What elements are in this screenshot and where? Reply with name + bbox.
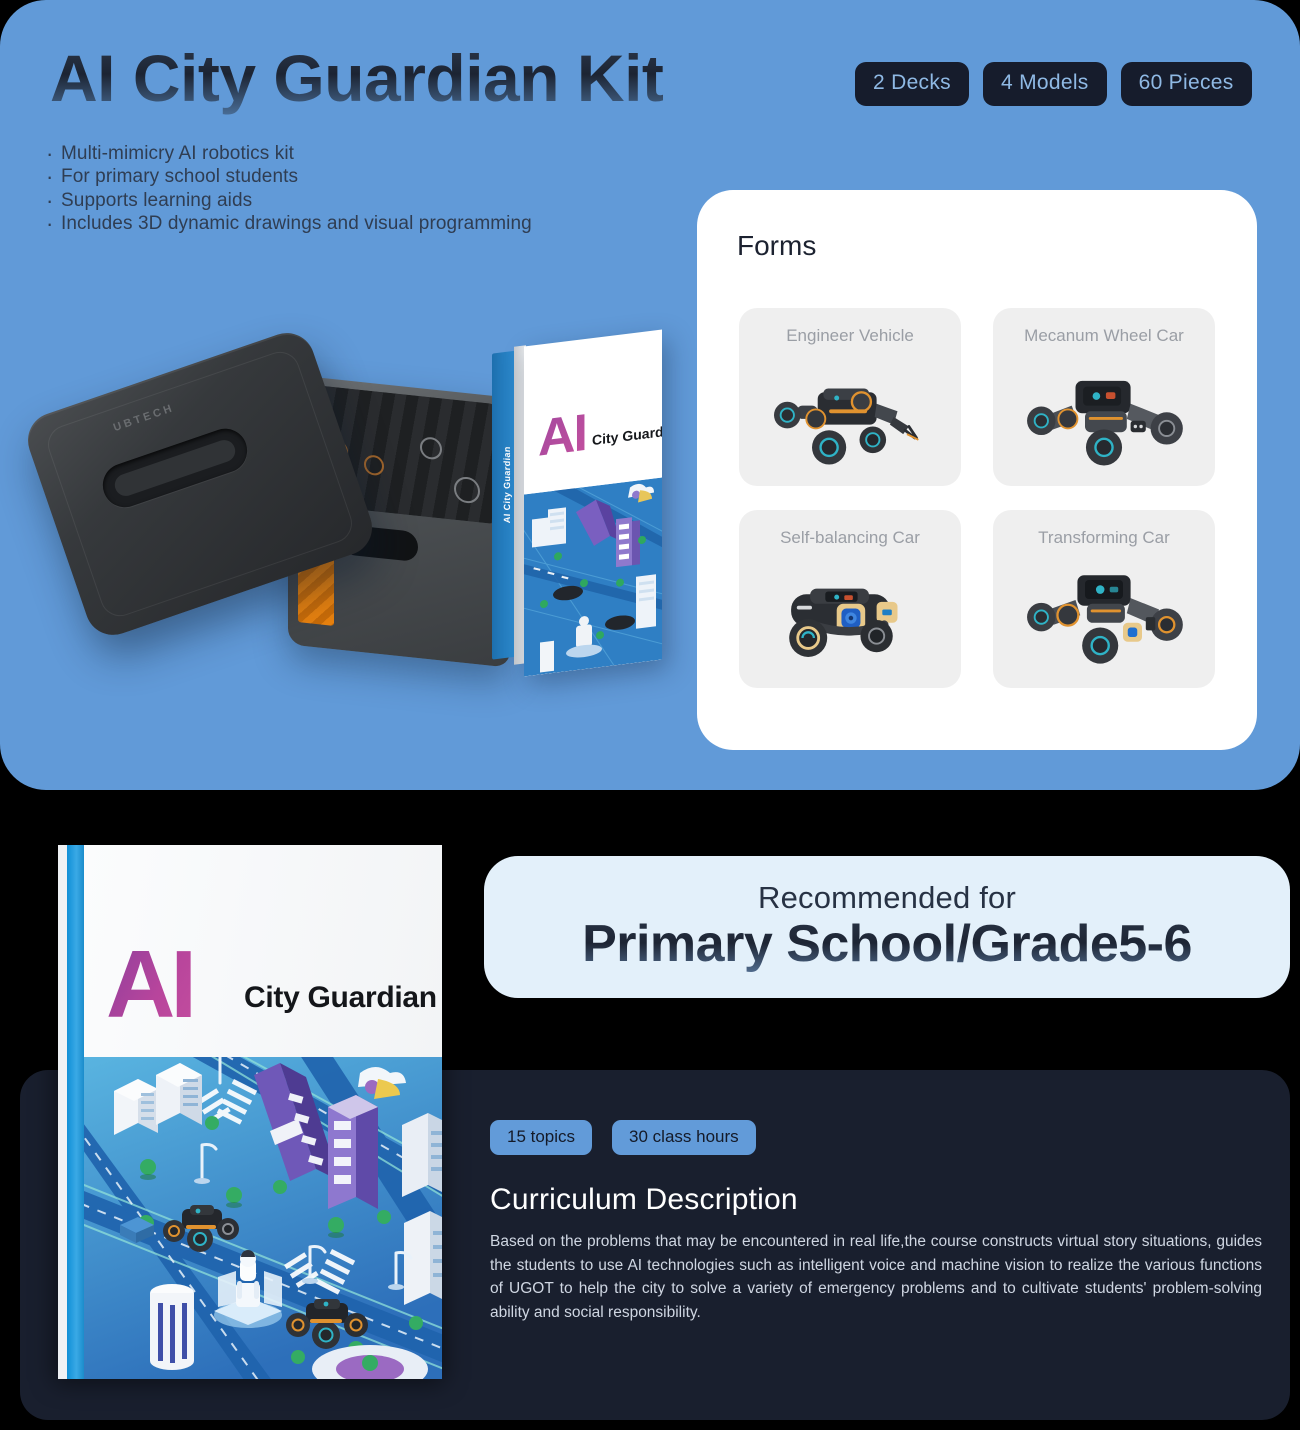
form-card-label: Engineer Vehicle [739, 326, 961, 346]
book-subtitle: City Guardian [592, 421, 662, 448]
forms-panel: Forms Engineer Vehicle [697, 190, 1257, 750]
form-card-transforming-car[interactable]: Transforming Car [993, 510, 1215, 688]
hero-badge-group: 2 Decks 4 Models 60 Pieces [855, 62, 1252, 106]
book-subtitle: City Guardian [244, 981, 437, 1015]
feature-item: Includes 3D dynamic drawings and visual … [44, 212, 532, 235]
curriculum-title: Curriculum Description [490, 1183, 1270, 1217]
form-card-self-balancing-car[interactable]: Self-balancing Car [739, 510, 961, 688]
book-city-illustration [84, 1057, 442, 1379]
feature-item: For primary school students [44, 165, 532, 188]
banner-headline: Primary School/Grade5-6 [582, 914, 1192, 974]
banner-eyebrow: Recommended for [758, 880, 1016, 916]
page-title: AI City Guardian Kit [50, 40, 663, 116]
curriculum-badge-group: 15 topics 30 class hours [490, 1120, 1270, 1155]
robot-self-balancing-car-icon [755, 562, 945, 676]
book-spine-label: AI City Guardian [502, 429, 512, 540]
forms-heading: Forms [737, 230, 816, 262]
form-card-mecanum-wheel-car[interactable]: Mecanum Wheel Car [993, 308, 1215, 486]
badge-pieces: 60 Pieces [1121, 62, 1252, 106]
book-ai-logo: AI [106, 937, 192, 1033]
badge-class-hours: 30 class hours [612, 1120, 756, 1155]
product-toolbox-image: UBTECH [40, 350, 510, 710]
badge-decks: 2 Decks [855, 62, 969, 106]
form-card-label: Mecanum Wheel Car [993, 326, 1215, 346]
hero-section: AI City Guardian Kit 2 Decks 4 Models 60… [0, 0, 1300, 790]
product-page: AI City Guardian Kit 2 Decks 4 Models 60… [0, 0, 1300, 1430]
robot-mecanum-wheel-car-icon [1009, 360, 1199, 474]
book-cover: AI City Guardian [84, 845, 442, 1379]
book-pages-edge [58, 845, 67, 1379]
robot-transforming-car-icon [1009, 562, 1199, 676]
robot-engineer-vehicle-icon [755, 360, 945, 474]
feature-item: Supports learning aids [44, 189, 532, 212]
curriculum-description: Based on the problems that may be encoun… [490, 1230, 1262, 1324]
feature-list: Multi-mimicry AI robotics kit For primar… [44, 142, 532, 235]
curriculum-content: 15 topics 30 class hours Curriculum Desc… [490, 1120, 1270, 1324]
recommendation-banner: Recommended for Primary School/Grade5-6 [484, 856, 1290, 998]
form-card-label: Transforming Car [993, 528, 1215, 548]
curriculum-book-image: AI City Guardian [40, 845, 445, 1385]
book-city-illustration [524, 478, 662, 677]
book-cover: AI City Guardian [524, 330, 662, 677]
form-card-engineer-vehicle[interactable]: Engineer Vehicle [739, 308, 961, 486]
book-spine [67, 845, 84, 1379]
hero-book-image: AI City Guardian AI City Guardian [492, 338, 662, 668]
badge-models: 4 Models [983, 62, 1107, 106]
badge-topics: 15 topics [490, 1120, 592, 1155]
form-card-label: Self-balancing Car [739, 528, 961, 548]
feature-item: Multi-mimicry AI robotics kit [44, 142, 532, 165]
book-ai-logo: AI [538, 403, 586, 469]
